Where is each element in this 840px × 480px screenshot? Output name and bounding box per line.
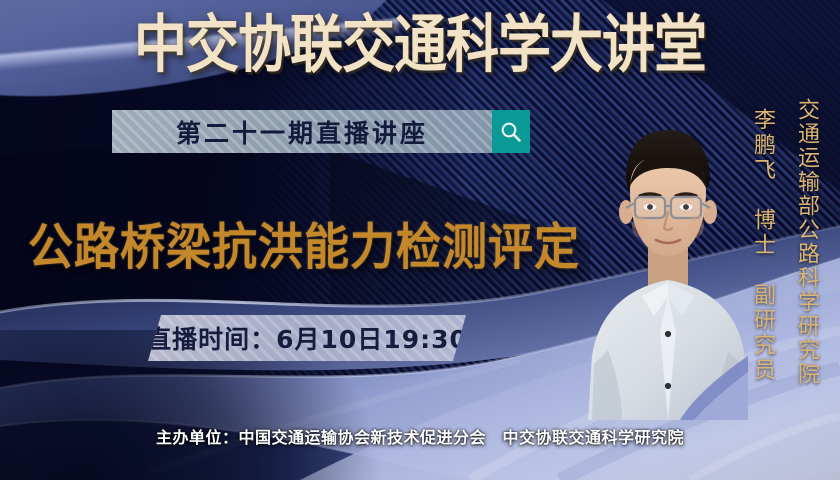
speaker-organization: 交通运输部公路科学研究院 [790,98,822,386]
live-time-text: 直播时间：6月10日19:30 [148,320,466,356]
search-icon[interactable] [492,110,530,153]
session-bar: 第二十一期直播讲座 [112,110,530,153]
session-label: 第二十一期直播讲座 [176,114,428,150]
topic-title: 公路桥梁抗洪能力检测评定 [28,207,580,279]
organizer-footer: 主办单位：中国交通运输协会新技术促进分会 中交协联交通科学研究院 [0,424,840,448]
promo-poster: 中交协联交通科学大讲堂 第二十一期直播讲座 公路桥梁抗洪能力检测评定 直播时间：… [0,0,840,480]
speaker-name-title: 李鹏飞 博士 副研究员 [746,108,778,383]
session-label-container: 第二十一期直播讲座 [112,110,492,153]
live-time-pill: 直播时间：6月10日19:30 [148,315,466,361]
speaker-photo [588,120,748,420]
page-title: 中交协联交通科学大讲堂 [0,14,840,77]
